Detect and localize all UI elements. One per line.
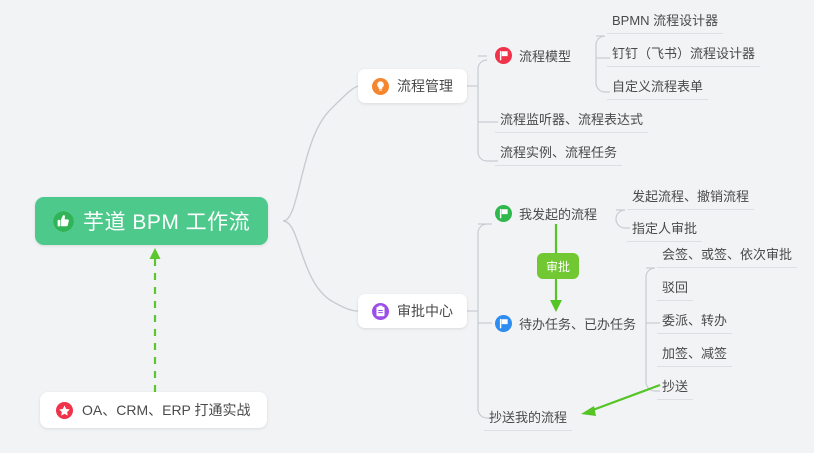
leaf-node[interactable]: 钉钉（飞书）流程设计器	[607, 44, 760, 67]
branch-node-process-management[interactable]: 流程管理	[358, 69, 467, 103]
topic-node-process-model[interactable]: 流程模型	[495, 44, 571, 66]
thumbs-up-icon	[53, 211, 74, 232]
branch-label-approval-center: 审批中心	[397, 301, 453, 321]
root-node[interactable]: 芋道 BPM 工作流	[35, 197, 268, 245]
callout-node-integration[interactable]: OA、CRM、ERP 打通实战	[40, 392, 267, 428]
leaf-node[interactable]: 发起流程、撤销流程	[627, 187, 754, 210]
leaf-node[interactable]: 抄送	[657, 377, 693, 400]
branch-label-process-management: 流程管理	[397, 76, 453, 96]
callout-label: OA、CRM、ERP 打通实战	[82, 400, 251, 420]
leaf-node[interactable]: BPMN 流程设计器	[607, 11, 723, 34]
root-label: 芋道 BPM 工作流	[83, 206, 250, 236]
flag-icon	[495, 205, 512, 222]
leaf-node[interactable]: 驳回	[657, 278, 693, 301]
leaf-node[interactable]: 抄送我的流程	[484, 408, 572, 431]
leaf-node[interactable]: 流程实例、流程任务	[495, 143, 622, 166]
star-icon	[56, 402, 73, 419]
flag-icon	[495, 47, 512, 64]
topic-label-process-model: 流程模型	[519, 46, 571, 65]
leaf-node[interactable]: 自定义流程表单	[607, 77, 708, 100]
leaf-node[interactable]: 会签、或签、依次审批	[657, 245, 797, 268]
leaf-node[interactable]: 委派、转办	[657, 311, 732, 334]
flag-icon	[495, 315, 512, 332]
topic-node-my-started-process[interactable]: 我发起的流程	[495, 202, 597, 224]
topic-label-my-started-process: 我发起的流程	[519, 204, 597, 223]
leaf-node[interactable]: 指定人审批	[627, 219, 702, 242]
leaf-node[interactable]: 流程监听器、流程表达式	[495, 110, 648, 133]
branch-node-approval-center[interactable]: 审批中心	[358, 294, 467, 328]
approve-tag-badge[interactable]: 审批	[537, 253, 579, 279]
topic-node-todo-done-tasks[interactable]: 待办任务、已办任务	[495, 312, 636, 334]
lightbulb-icon	[372, 78, 389, 95]
clipboard-icon	[372, 303, 389, 320]
mindmap-canvas: 芋道 BPM 工作流 流程管理 流程模型 BPMN 流程设计器 钉钉（飞书）流程…	[0, 0, 814, 453]
topic-label-todo-done-tasks: 待办任务、已办任务	[519, 314, 636, 333]
leaf-node[interactable]: 加签、减签	[657, 344, 732, 367]
